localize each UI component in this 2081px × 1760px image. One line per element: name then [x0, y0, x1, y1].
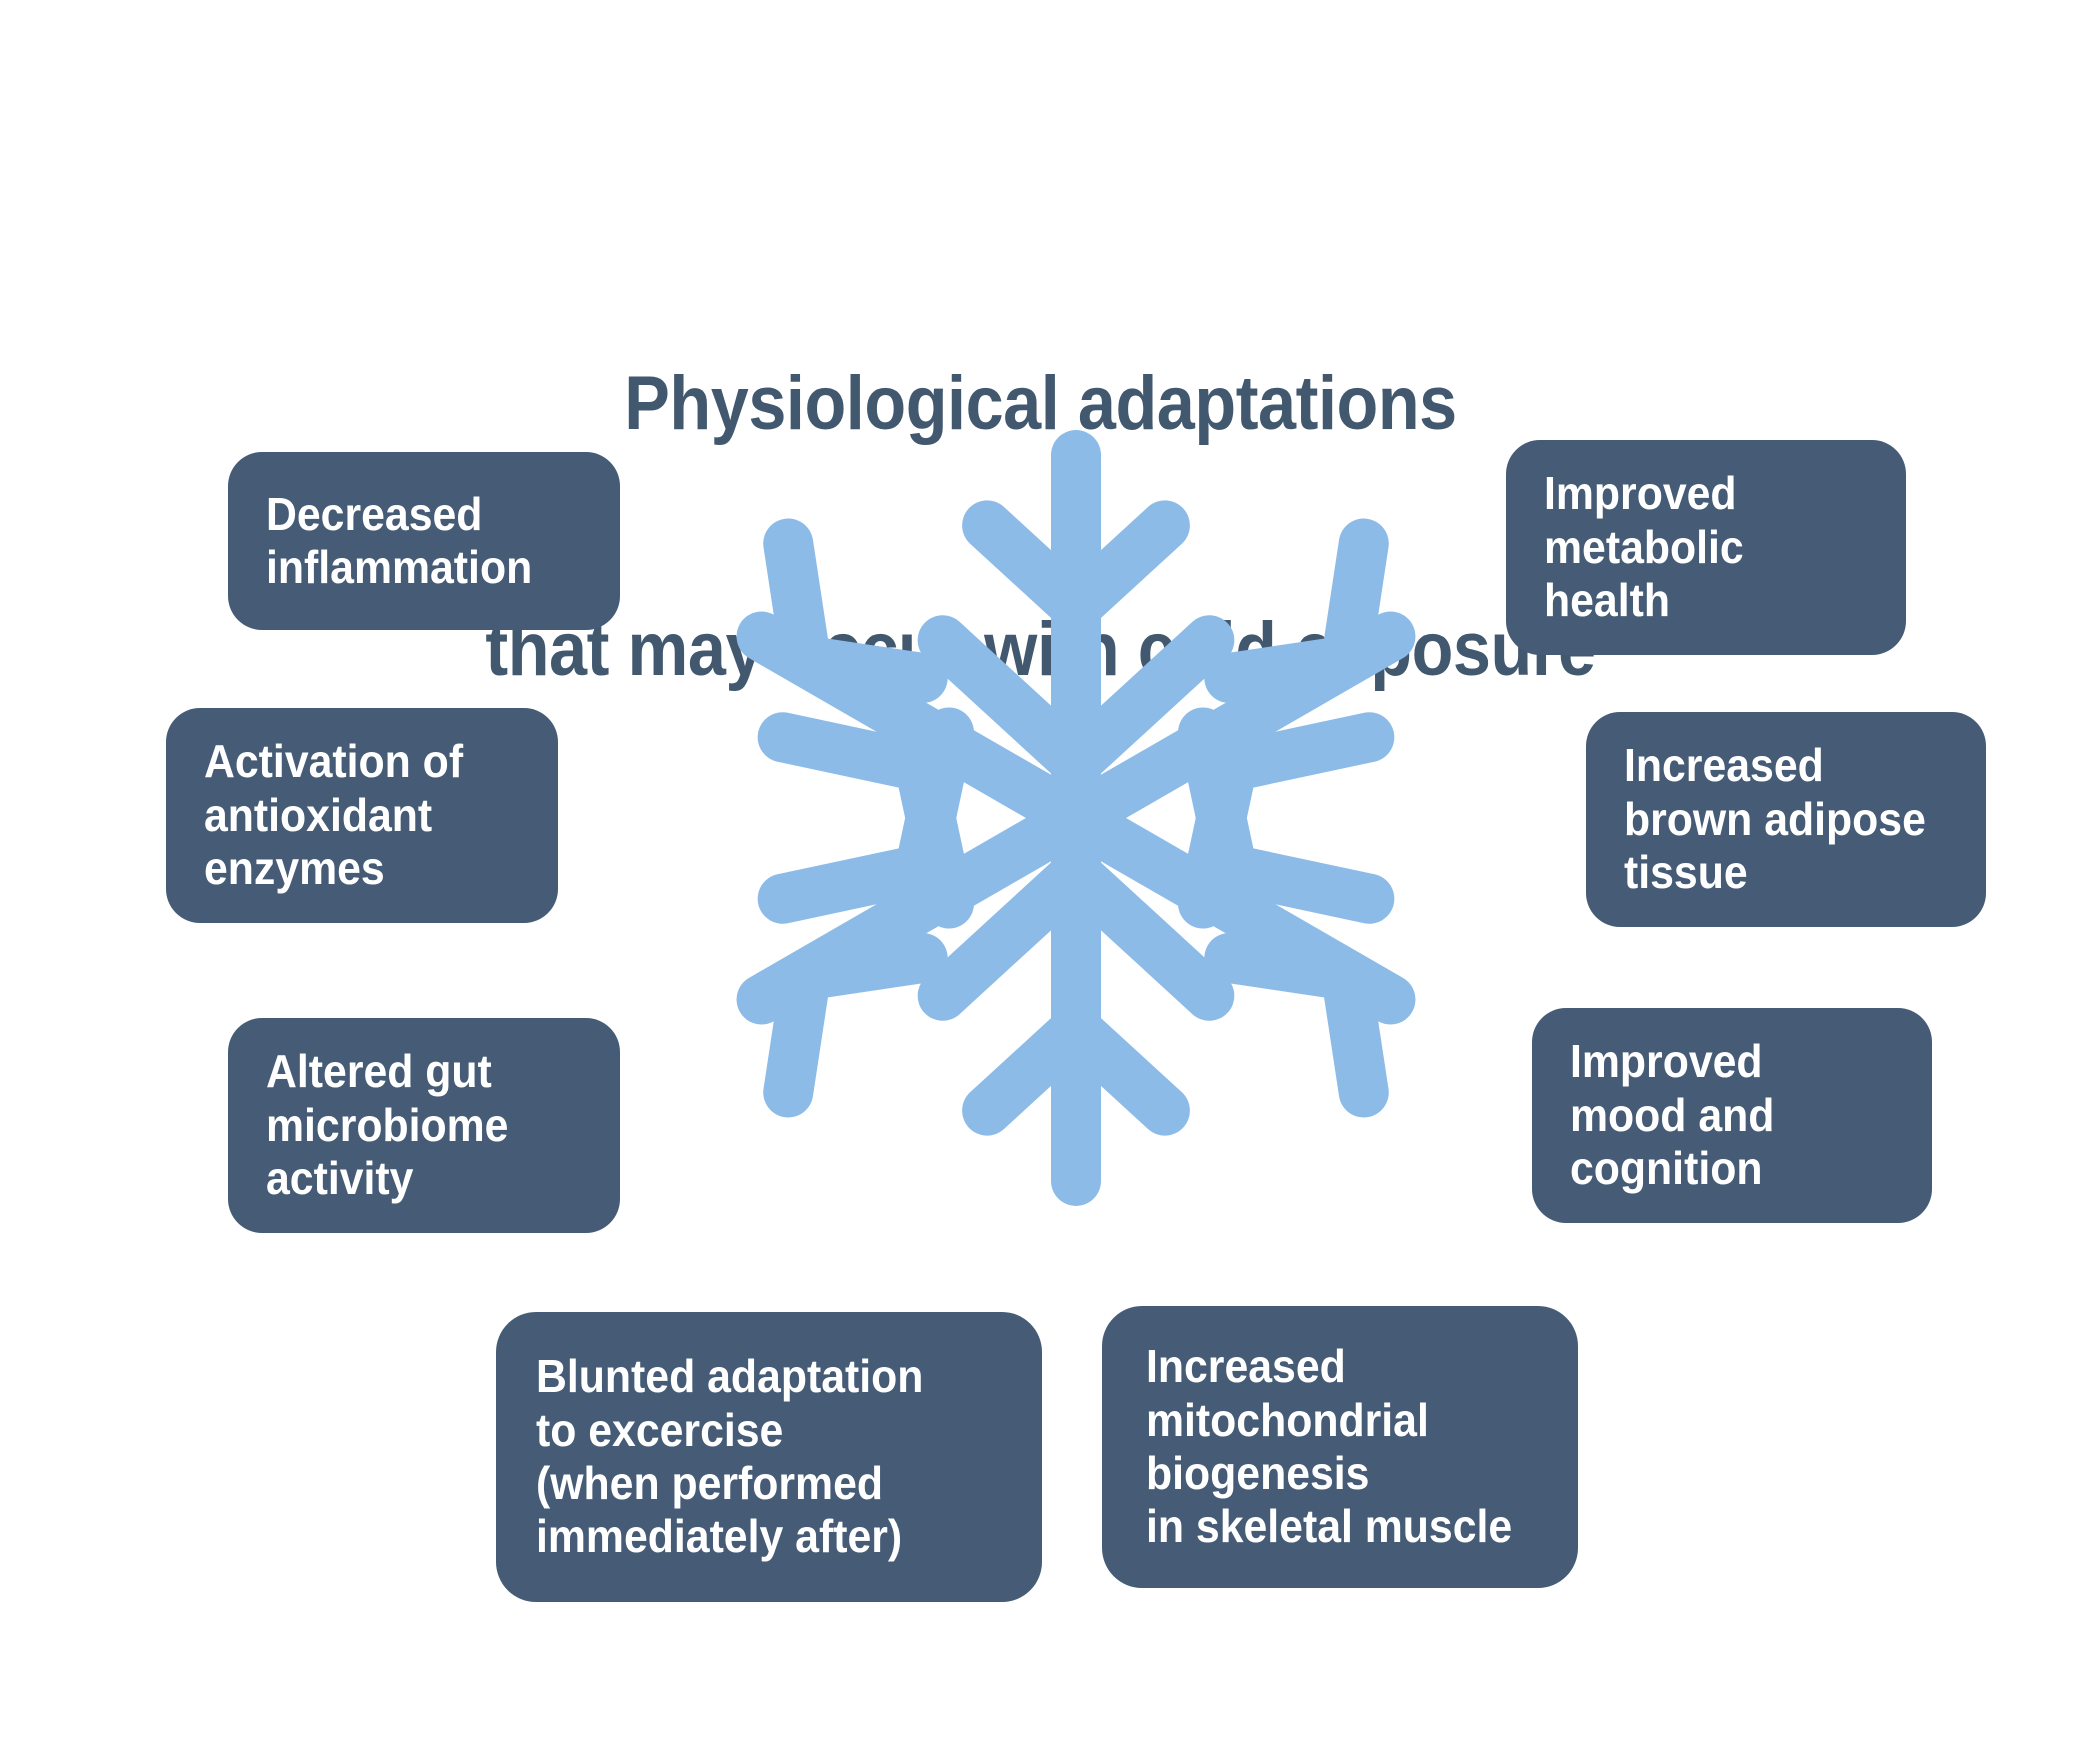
adaptation-card-gut-microbiome[interactable]: Altered gut microbiome activity — [228, 1018, 620, 1233]
adaptation-card-antioxidant-enzymes[interactable]: Activation of antioxidant enzymes — [166, 708, 558, 923]
adaptation-card-label: Increased brown adipose tissue — [1624, 739, 1961, 899]
adaptation-card-mitochondrial-biogenesis[interactable]: Increased mitochondrial biogenesis in sk… — [1102, 1306, 1578, 1588]
adaptation-card-label: Improved metabolic health — [1544, 467, 1881, 627]
adaptation-card-label: Decreased inflammation — [266, 488, 595, 595]
infographic-canvas: Physiological adaptations that may occur… — [0, 0, 2081, 1760]
adaptation-card-label: Activation of antioxidant enzymes — [204, 735, 533, 895]
snowflake-icon — [700, 418, 1452, 1218]
adaptation-card-metabolic-health[interactable]: Improved metabolic health — [1506, 440, 1906, 655]
adaptation-card-brown-adipose-tissue[interactable]: Increased brown adipose tissue — [1586, 712, 1986, 927]
adaptation-card-label: Altered gut microbiome activity — [266, 1045, 595, 1205]
adaptation-card-label: Improved mood and cognition — [1570, 1035, 1907, 1195]
adaptation-card-label: Increased mitochondrial biogenesis in sk… — [1146, 1340, 1548, 1553]
adaptation-card-mood-and-cognition[interactable]: Improved mood and cognition — [1532, 1008, 1932, 1223]
adaptation-card-label: Blunted adaptation to excercise (when pe… — [536, 1350, 1007, 1563]
adaptation-card-decreased-inflammation[interactable]: Decreased inflammation — [228, 452, 620, 630]
adaptation-card-blunted-adaptation-to-exercise[interactable]: Blunted adaptation to excercise (when pe… — [496, 1312, 1042, 1602]
